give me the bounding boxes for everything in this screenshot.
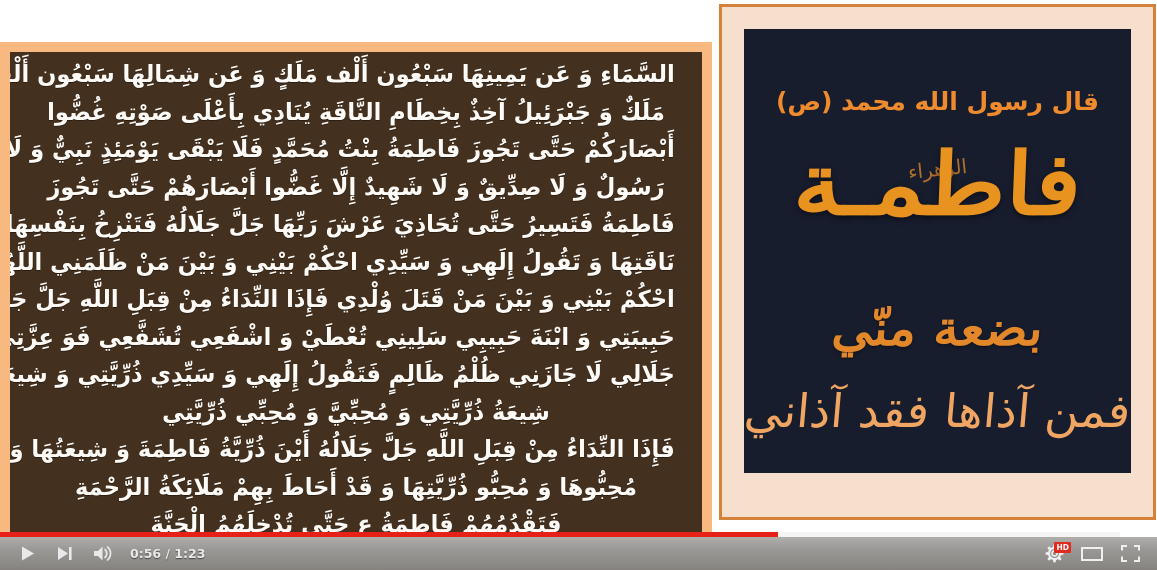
volume-button[interactable] (84, 537, 122, 570)
theater-mode-icon (1081, 545, 1103, 562)
video-player: السَّمَاءِ وَ عَن يَمِينِهَا سَبْعُون أَ… (0, 0, 1157, 570)
hadith-line: مَلَكٌ وَ جَبْرَئِيلُ آخِذٌ بِخِطَامِ ال… (37, 94, 674, 132)
hadith-line: مُحِبُّوهَا وَ مُحِبُّو ذُرِّيَّتِهَا وَ… (37, 469, 674, 507)
fatima-name-calligraphy: فاطمـة (744, 125, 1131, 245)
next-icon (57, 546, 73, 561)
hadith-line: فَاطِمَةُ فَتَسِيرُ حَتَّى تُحَاذِيَ عَر… (37, 206, 674, 244)
hadith-line: نَاقَتِهَا وَ تَقُولُ إِلَهِي وَ سَيِّدِ… (37, 244, 674, 282)
hd-quality-badge: HD (1054, 542, 1071, 553)
fullscreen-icon (1121, 545, 1140, 562)
hadith-text-inner: السَّمَاءِ وَ عَن يَمِينِهَا سَبْعُون أَ… (10, 52, 702, 537)
video-stage[interactable]: السَّمَاءِ وَ عَن يَمِينِهَا سَبْعُون أَ… (0, 0, 1157, 537)
calligraphy-canvas: قال رسول الله محمد (ص) الزهراء فاطمـة بض… (744, 29, 1131, 473)
play-button[interactable] (8, 537, 46, 570)
settings-button[interactable]: HD (1035, 537, 1073, 570)
hadith-attribution: قال رسول الله محمد (ص) (744, 87, 1131, 116)
hadith-line: رَسُولٌ وَ لَا صِدِّيقٌ وَ لَا شَهِيدٌ إ… (37, 169, 674, 207)
hadith-line: احْكُمْ بَيْنِي وَ بَيْنَ مَنْ قَتَلَ وُ… (37, 281, 674, 319)
hadith-phrase-one: بضعة منّي (744, 301, 1131, 357)
progress-bar[interactable] (0, 529, 1157, 537)
hadith-line: السَّمَاءِ وَ عَن يَمِينِهَا سَبْعُون أَ… (37, 56, 674, 94)
volume-icon (93, 545, 113, 562)
fullscreen-button[interactable] (1111, 537, 1149, 570)
hadith-line: حَبِيبَتِي وَ ابْنَةَ حَبِيبِي سَلِينِي … (37, 319, 674, 357)
controls-left-group: 0:56 / 1:23 (8, 537, 205, 570)
hadith-text-panel: السَّمَاءِ وَ عَن يَمِينِهَا سَبْعُون أَ… (0, 42, 712, 537)
next-video-button[interactable] (46, 537, 84, 570)
theater-mode-button[interactable] (1073, 537, 1111, 570)
play-icon (19, 545, 36, 562)
hadith-phrase-two: فمن آذاها فقد آذاني (744, 384, 1131, 438)
hadith-line: أَبْصَارَكُمْ حَتَّى تَجُوزَ فَاطِمَةُ ب… (37, 131, 674, 169)
hadith-line: شِيعَةُ ذُرِّيَّتِي وَ مُحِبِّيَّ وَ مُح… (37, 394, 674, 432)
hadith-line: جَلَالِي لَا جَازَنِي ظُلْمُ ظَالِمٍ فَت… (37, 356, 674, 394)
hadith-line: فَإِذَا النِّدَاءُ مِنْ قِبَلِ اللَّهِ ج… (37, 431, 674, 469)
controls-right-group: HD (1035, 537, 1149, 570)
calligraphy-poster: قال رسول الله محمد (ص) الزهراء فاطمـة بض… (719, 4, 1156, 520)
time-display: 0:56 / 1:23 (130, 546, 205, 561)
player-control-bar: 0:56 / 1:23 HD (0, 537, 1157, 570)
